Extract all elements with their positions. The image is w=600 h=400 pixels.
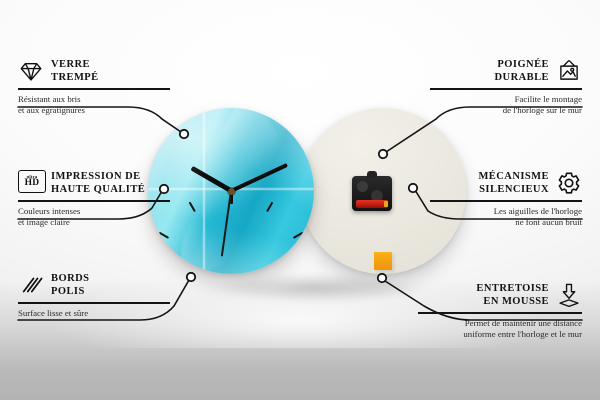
feature-header: BORDS POLIS xyxy=(18,272,170,298)
foam-spacer-icon xyxy=(556,282,582,308)
clock-tick xyxy=(231,273,314,274)
divider xyxy=(18,88,170,90)
diamond-icon xyxy=(18,58,44,84)
divider xyxy=(418,312,582,314)
feature-header: POIGNÉE DURABLE xyxy=(430,58,582,84)
glass-reflection xyxy=(148,108,314,274)
battery xyxy=(356,200,388,208)
feature-poignee-durable: POIGNÉE DURABLE Facilite le montage de l… xyxy=(430,58,582,117)
divider xyxy=(430,88,582,90)
hanger-nub xyxy=(367,171,377,178)
ultra-hd-icon: ultra HD xyxy=(18,170,44,196)
battery-terminal xyxy=(384,201,388,207)
clock-mechanism xyxy=(352,176,392,211)
feature-bords-polis: BORDS POLIS Surface lisse et sûre xyxy=(18,272,170,319)
feature-title: IMPRESSION DE HAUTE QUALITÉ xyxy=(51,170,145,196)
product-infographic: VERRE TREMPÉ Résistant aux bris et aux é… xyxy=(0,0,600,400)
feature-title: POIGNÉE DURABLE xyxy=(495,58,550,84)
feature-description: Les aiguilles de l'horloge ne font aucun… xyxy=(430,206,582,229)
feature-verre-trempe: VERRE TREMPÉ Résistant aux bris et aux é… xyxy=(18,58,170,117)
feature-header: MÉCANISME SILENCIEUX xyxy=(430,170,582,196)
gear-icon xyxy=(556,170,582,196)
feature-impression-haute-qualite: ultra HD IMPRESSION DE HAUTE QUALITÉ Cou… xyxy=(18,170,170,229)
feature-header: VERRE TREMPÉ xyxy=(18,58,170,84)
feature-description: Permet de maintenir une distance uniform… xyxy=(418,318,582,341)
clock-front-view xyxy=(148,108,314,274)
feature-title: MÉCANISME SILENCIEUX xyxy=(478,170,549,196)
feature-title: BORDS POLIS xyxy=(51,272,89,298)
feature-title: VERRE TREMPÉ xyxy=(51,58,99,84)
foam-spacer xyxy=(374,252,392,270)
divider xyxy=(430,200,582,202)
feature-header: ENTRETOISE EN MOUSSE xyxy=(418,282,582,308)
feature-mecanisme-silencieux: MÉCANISME SILENCIEUX Les aiguilles de l'… xyxy=(430,170,582,229)
divider xyxy=(18,200,170,202)
feature-description: Résistant aux bris et aux égratignures xyxy=(18,94,170,117)
feature-description: Facilite le montage de l'horloge sur le … xyxy=(430,94,582,117)
feature-entretoise-mousse: ENTRETOISE EN MOUSSE Permet de maintenir… xyxy=(418,282,582,341)
feature-title: ENTRETOISE EN MOUSSE xyxy=(476,282,549,308)
divider xyxy=(18,302,170,304)
polished-edges-icon xyxy=(18,272,44,298)
feature-header: ultra HD IMPRESSION DE HAUTE QUALITÉ xyxy=(18,170,170,196)
picture-hanger-icon xyxy=(556,58,582,84)
feature-description: Surface lisse et sûre xyxy=(18,308,170,320)
mechanism-dial xyxy=(357,181,368,192)
feature-description: Couleurs intenses et image claire xyxy=(18,206,170,229)
